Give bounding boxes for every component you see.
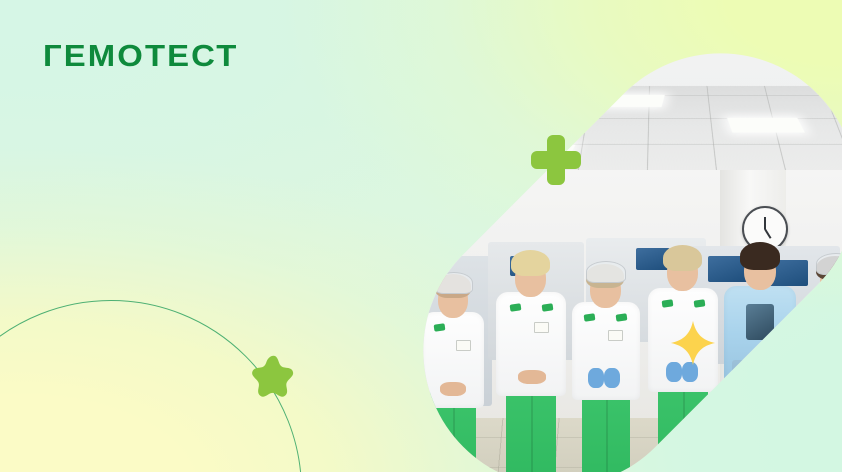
ceiling-light [727,118,805,133]
staff-member-blue-apron [716,242,802,472]
staff-member [490,248,572,472]
photo-pill-mask [367,0,842,472]
ceiling-light [598,95,665,107]
lab-scene [390,20,842,472]
banner-root: ГЕМОТЕСТ [0,0,842,472]
yellow-sparkle-icon [670,320,716,366]
staff-member [796,252,842,472]
ceiling-light [451,101,531,115]
brand-logo: ГЕМОТЕСТ [43,40,238,71]
staff-member [416,270,492,472]
photo-content [390,20,842,472]
medical-cross-icon [531,135,581,185]
lab-staff-photo [404,34,842,472]
green-star-icon [251,354,296,398]
staff-member [566,260,646,472]
